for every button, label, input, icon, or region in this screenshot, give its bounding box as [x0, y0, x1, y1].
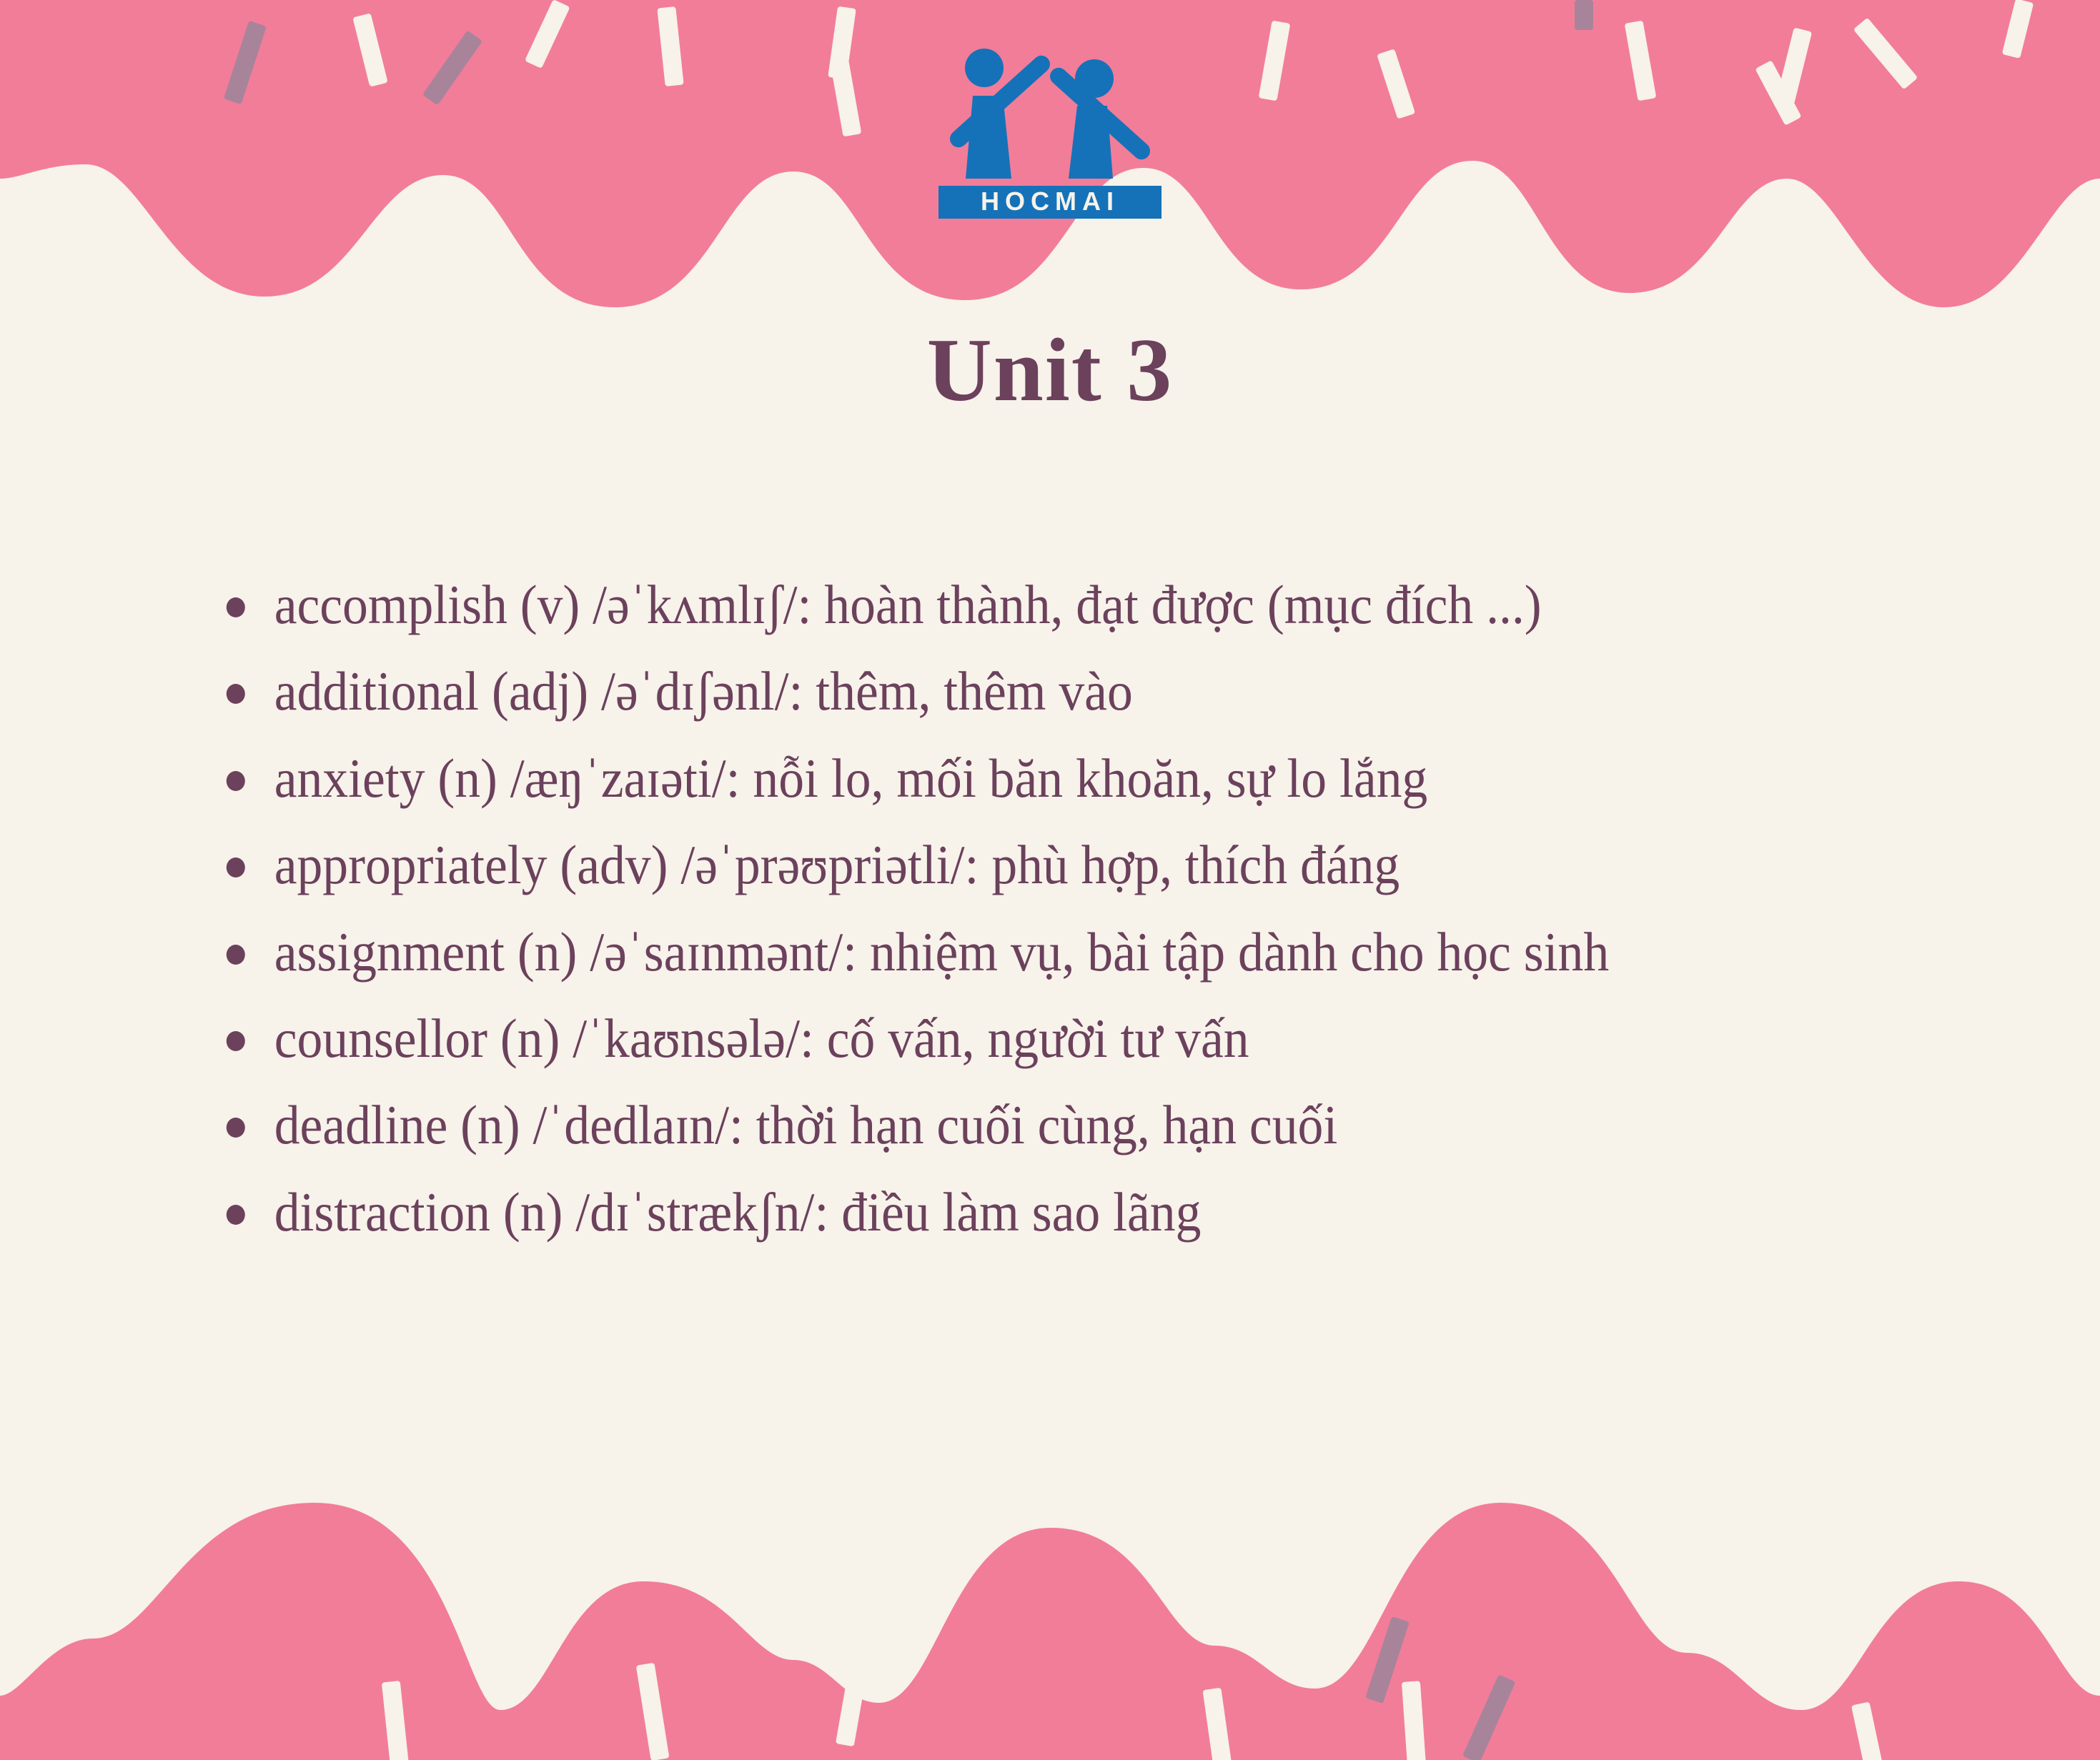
confetti-stick — [1755, 60, 1801, 126]
confetti-stick — [1402, 1681, 1426, 1760]
confetti-stick — [1202, 1688, 1232, 1760]
confetti-stick — [1377, 49, 1415, 119]
bottom-arch-shape — [0, 1503, 2100, 1760]
confetti-stick — [1365, 1616, 1410, 1704]
list-item: additional (adj) /əˈdɪʃənl/: thêm, thêm … — [214, 658, 1823, 724]
confetti-stick — [636, 1663, 670, 1760]
list-item: assignment (n) /əˈsaɪnmənt/: nhiệm vụ, b… — [214, 919, 1823, 985]
confetti-stick — [224, 21, 267, 104]
logo-wordmark-text: HOCMAI — [981, 187, 1119, 216]
page-title: Unit 3 — [0, 322, 2100, 421]
confetti-stick — [2002, 0, 2034, 59]
confetti-stick — [1575, 0, 1593, 30]
list-item: deadline (n) /ˈdedlaɪn/: thời hạn cuối c… — [214, 1092, 1823, 1158]
bottom-confetti-group — [382, 1616, 1884, 1760]
confetti-stick — [1259, 21, 1291, 101]
list-item: distraction (n) /dɪˈstrækʃn/: điều làm s… — [214, 1179, 1823, 1245]
list-item: appropriately (adv) /əˈprəʊpriətli/: phù… — [214, 832, 1823, 898]
list-item: anxiety (n) /æŋˈzaɪəti/: nỗi lo, mối băn… — [214, 745, 1823, 811]
confetti-stick — [382, 1681, 409, 1760]
confetti-stick — [1851, 1701, 1884, 1760]
confetti-stick — [1625, 21, 1657, 101]
confetti-stick — [525, 0, 570, 69]
slide-canvas: HOCMAI Unit 3 accomplish (v) /əˈkʌmlɪʃ/:… — [0, 0, 2100, 1760]
confetti-stick — [836, 1652, 870, 1747]
confetti-stick — [828, 6, 856, 80]
bottom-decoration-band — [0, 1474, 2100, 1760]
logo-left-head-icon — [965, 49, 1004, 87]
confetti-stick — [1776, 27, 1813, 104]
confetti-stick — [1462, 1674, 1516, 1760]
confetti-stick — [352, 13, 387, 86]
vocabulary-list: accomplish (v) /əˈkʌmlɪʃ/: hoàn thành, đ… — [214, 572, 1944, 1266]
logo-right-body-icon — [1069, 106, 1113, 179]
confetti-stick — [1853, 18, 1918, 90]
hocmai-logo: HOCMAI — [928, 44, 1172, 280]
confetti-stick — [657, 6, 683, 86]
confetti-stick — [422, 30, 482, 105]
confetti-stick — [830, 56, 862, 137]
list-item: counsellor (n) /ˈkaʊnsələ/: cố vấn, ngườ… — [214, 1005, 1823, 1071]
list-item: accomplish (v) /əˈkʌmlɪʃ/: hoàn thành, đ… — [214, 572, 1823, 637]
